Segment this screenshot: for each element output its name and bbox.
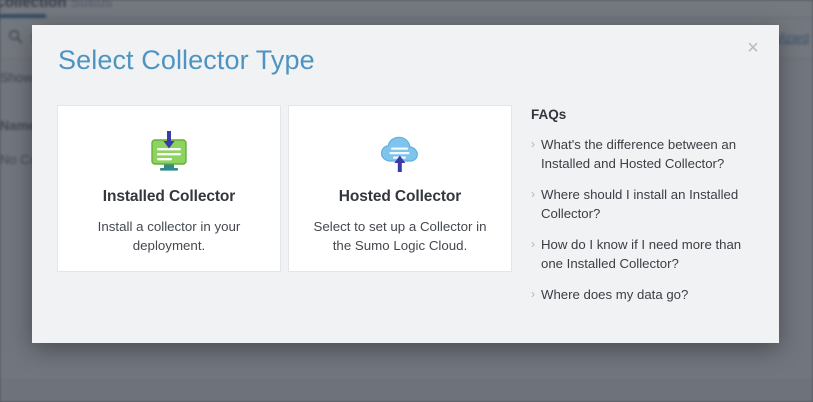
card-hosted-collector[interactable]: Hosted Collector Select to set up a Coll… — [288, 105, 512, 272]
cloud-upload-icon — [374, 128, 426, 176]
faq-item-label: Where does my data go? — [541, 286, 688, 305]
select-collector-type-dialog: × Select Collector Type — [32, 25, 779, 343]
chevron-right-icon: › — [531, 236, 541, 253]
card-description: Install a collector in your deployment. — [77, 217, 262, 255]
faq-item-label: How do I know if I need more than one In… — [541, 236, 756, 273]
faq-item-how-many-collectors[interactable]: › How do I know if I need more than one … — [531, 236, 756, 273]
card-title: Hosted Collector — [339, 188, 461, 206]
chevron-right-icon: › — [531, 286, 541, 303]
close-icon[interactable]: × — [741, 36, 765, 60]
collector-type-card-list: Installed Collector Install a collector … — [57, 105, 512, 272]
chevron-right-icon: › — [531, 136, 541, 153]
faq-item-difference-installed-hosted[interactable]: › What's the difference between an Insta… — [531, 136, 756, 173]
monitor-download-icon — [143, 128, 195, 176]
screen-root: Collection Status Search Setup Wizard Sh… — [0, 0, 813, 402]
faq-item-where-data-goes[interactable]: › Where does my data go? — [531, 286, 756, 305]
chevron-right-icon: › — [531, 186, 541, 203]
card-title: Installed Collector — [103, 188, 235, 206]
faq-item-label: What's the difference between an Install… — [541, 136, 756, 173]
card-installed-collector[interactable]: Installed Collector Install a collector … — [57, 105, 281, 272]
faq-item-label: Where should I install an Installed Coll… — [541, 186, 756, 223]
faq-item-where-install[interactable]: › Where should I install an Installed Co… — [531, 186, 756, 223]
faq-panel: FAQs › What's the difference between an … — [531, 107, 756, 318]
faq-heading: FAQs — [531, 107, 756, 122]
dialog-title: Select Collector Type — [58, 45, 315, 76]
card-description: Select to set up a Collector in the Sumo… — [308, 217, 493, 255]
